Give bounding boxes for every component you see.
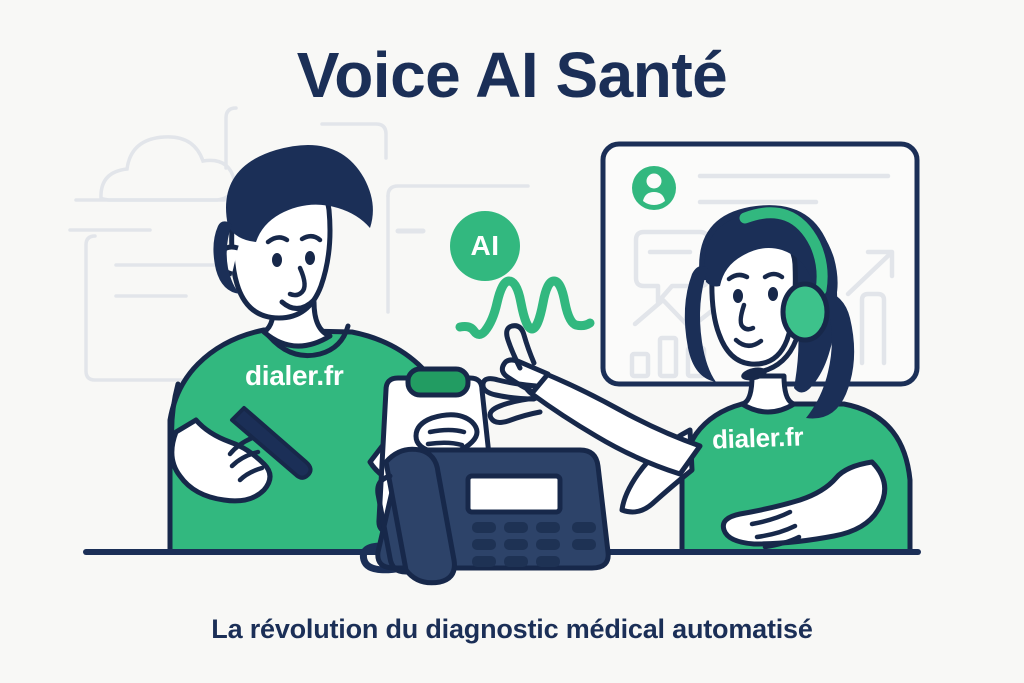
woman-neck xyxy=(742,376,794,412)
user-avatar-icon xyxy=(632,166,676,210)
clipboard-clip xyxy=(408,369,468,395)
page-subtitle: La révolution du diagnostic médical auto… xyxy=(0,614,1024,645)
ai-badge-circle[interactable] xyxy=(450,211,520,281)
clipboard-hand xyxy=(416,415,477,453)
page-title: Voice AI Santé xyxy=(0,42,1024,109)
man-eye-left xyxy=(272,253,282,267)
woman-eye-right xyxy=(768,287,778,301)
desk-phone[interactable] xyxy=(363,449,608,583)
headset-earcup xyxy=(783,284,827,340)
phone-screen xyxy=(468,476,560,512)
man-eye-right xyxy=(305,251,315,265)
poster-canvas: Voice AI Santé La révolution du diagnost… xyxy=(0,0,1024,683)
woman-eye-left xyxy=(733,289,743,303)
